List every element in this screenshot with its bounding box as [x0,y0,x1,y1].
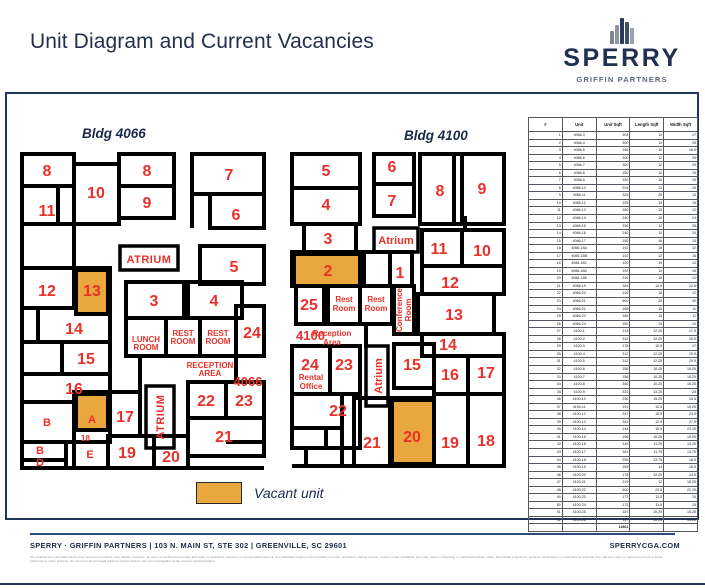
cell-c-len: 12 [630,222,664,230]
cell-c-sq: 216 [596,290,630,298]
svg-text:8: 8 [43,163,52,180]
cell-c-unit: 4100-25 [562,509,596,517]
cell-c-wid: 16 [664,267,698,275]
cell-c-wid: 15.25 [664,403,698,411]
cell-c-wid: 15 [664,184,698,192]
cell-c-num: 8 [529,184,563,192]
cell-c-wid: 12 [664,290,698,298]
cell-c-sq: 192 [596,245,630,253]
cell-c-num: 12 [529,215,563,223]
svg-text:9: 9 [143,195,152,212]
total-sqft: 11861 [596,524,630,532]
cell-c-sq: 247 [596,411,630,419]
cell-c-len: 10.5 [630,426,664,434]
cell-c-sq: 300 [596,154,630,162]
table-row[interactable]: 124066-142401024 [529,215,698,223]
cell-c-len: 11.5 [630,494,664,502]
cell-c-num: 41 [529,433,563,441]
cell-c-wid: 15 [664,169,698,177]
cell-c-wid: 17 [664,132,698,140]
table-row[interactable]: 344100-834010.2516.25 [529,381,698,389]
table-row[interactable]: 14066-32041217 [529,132,698,140]
cell-c-num: 9 [529,192,563,200]
cell-c-len: 12 [630,162,664,170]
cell-c-wid: 10 [664,320,698,328]
cell-c-wid: 30 [664,298,698,306]
svg-text:22: 22 [329,403,347,420]
cell-c-wid: 25 [664,139,698,147]
cell-c-len: 11.75 [630,448,664,456]
svg-text:4: 4 [210,293,219,310]
building-label-4066: Bldg 4066 [82,126,146,141]
footer-bottom-border [0,583,705,585]
cell-c-wid: 16.25 [664,381,698,389]
cell-c-wid: 14.5 [664,471,698,479]
cell-c-sq: 219 [596,479,630,487]
cell-c-num: 17 [529,252,563,260]
cell-c-num: 32 [529,365,563,373]
svg-text:24: 24 [301,357,319,374]
svg-text:21: 21 [215,429,233,446]
cell-c-num: 52 [529,516,563,524]
svg-text:ATRIUM: ATRIUM [155,395,167,440]
table-row[interactable]: 274100-121412.2517.5 [529,328,698,336]
cell-c-num: 48 [529,486,563,494]
table-row[interactable]: 254066-231651511 [529,313,698,321]
cell-c-unit: 4100-13 [562,418,596,426]
floorplan-bldg-4066[interactable]: 8 10 8 9 7 11 6 12 13 5 14 3 4 24 15 16 … [14,146,272,476]
footer-rule [30,533,675,535]
cell-c-wid: 27.5 [664,418,698,426]
cell-c-sq: 300 [596,162,630,170]
cell-c-unit: 4100-23 [562,494,596,502]
cell-c-wid: 15.25 [664,509,698,517]
cell-c-num: 24 [529,305,563,313]
cell-c-wid: 11 [664,313,698,321]
cell-c-sq: 168 [596,147,630,155]
cell-c-num: 16 [529,245,563,253]
cell-c-num: 30 [529,350,563,358]
svg-text:9: 9 [478,181,487,198]
footer-company-line: SPERRY · GRIFFIN PARTNERS | 103 N. MAIN … [30,541,347,550]
cell-c-len: 15 [630,305,664,313]
svg-text:19: 19 [118,445,136,462]
svg-text:ROOM: ROOM [171,337,196,346]
table-row[interactable]: 134066-153361228 [529,222,698,230]
cell-c-unit: 4100-8 [562,381,596,389]
cell-c-num: 34 [529,381,563,389]
cell-c-num: 13 [529,222,563,230]
cell-c-num: 38 [529,411,563,419]
sperry-logo: SPERRY GRIFFIN PARTNERS [561,14,683,84]
svg-text:16: 16 [65,381,83,398]
cell-c-unit: 4100-2 [562,335,596,343]
table-row[interactable]: 454100-192591418.5 [529,464,698,472]
cell-c-unit: 4100-12 [562,411,596,419]
table-row[interactable]: 324100-615610.2515.25 [529,365,698,373]
table-row[interactable]: 414100-1515610.2515.25 [529,433,698,441]
cell-c-sq: 157 [596,509,630,517]
cell-c-wid: 28 [664,222,698,230]
svg-text:12: 12 [441,275,459,292]
cell-c-wid: 25 [664,388,698,396]
svg-text:22: 22 [197,393,215,410]
units-table-body: 14066-3204121724066-4300122534066-516810… [529,132,698,532]
cell-c-len: 10 [630,215,664,223]
svg-text:3: 3 [324,231,333,248]
cell-c-wid: 15.25 [664,516,698,524]
cell-c-len: 10 [630,169,664,177]
cell-c-sq: 300 [596,139,630,147]
cell-c-unit: 4100-4 [562,350,596,358]
cell-c-sq: 173 [596,494,630,502]
cell-c-len: 20 [630,298,664,306]
cell-c-unit: 4100-20 [562,471,596,479]
table-row[interactable]: 314100-531212.2525.5 [529,358,698,366]
svg-text:A: A [88,414,96,426]
cell-c-sq: 325 [596,192,630,200]
table-row[interactable]: 284100-231212.2525.5 [529,335,698,343]
table-row[interactable]: 294100-317810.517 [529,343,698,351]
table-row[interactable]: 114066-131801512 [529,207,698,215]
cell-c-len: 18 [630,290,664,298]
cell-c-num: 33 [529,373,563,381]
table-row[interactable]: 74066-91501015 [529,177,698,185]
svg-text:10: 10 [87,185,105,202]
cell-c-num: 6 [529,169,563,177]
cell-c-wid: 13 [664,192,698,200]
cell-c-num: 20 [529,275,563,283]
cell-c-sq: 204 [596,184,630,192]
table-row[interactable]: 364100-1023615.2515.5 [529,396,698,404]
table-row[interactable]: 484100-2260023.522.25 [529,486,698,494]
table-row[interactable]: 174066-18B1921216 [529,252,698,260]
cell-c-unit: 4066-21 [562,298,596,306]
svg-text:6: 6 [232,207,241,224]
cell-c-sq: 165 [596,313,630,321]
table-row[interactable]: 204066-18E2161812 [529,275,698,283]
cell-c-wid: 24 [664,230,698,238]
cell-c-len: 15 [630,313,664,321]
svg-text:23: 23 [235,393,253,410]
table-row[interactable]: 194066-18D1921216 [529,267,698,275]
table-row[interactable]: 464100-2017812.2514.5 [529,471,698,479]
table-row[interactable]: 384100-1224710.523.5 [529,411,698,419]
total-spacer [630,524,664,532]
table-row[interactable]: 374100-1119112.515.25 [529,403,698,411]
cell-c-sq: 214 [596,328,630,336]
cell-c-wid: 15 [664,501,698,509]
cell-c-sq: 244 [596,426,630,434]
cell-c-unit: 4066-8 [562,169,596,177]
svg-text:8: 8 [436,183,445,200]
cell-c-unit: 4066-16 [562,230,596,238]
table-row[interactable]: 424100-1614911.2513.25 [529,441,698,449]
svg-text:Conference: Conference [395,287,404,332]
cell-c-unit: 4066-23 [562,313,596,321]
cell-c-sq: 240 [596,215,630,223]
cell-c-wid: 15 [664,177,698,185]
cell-c-len: 16 [630,245,664,253]
cell-c-sq: 216 [596,275,630,283]
cell-c-num: 46 [529,471,563,479]
cell-c-sq: 191 [596,403,630,411]
page-title: Unit Diagram and Current Vacancies [30,30,374,54]
table-row[interactable]: 94066-113252513 [529,192,698,200]
cell-c-sq: 600 [596,298,630,306]
svg-text:Room: Room [404,299,413,322]
cell-c-num: 10 [529,199,563,207]
svg-text:25: 25 [300,297,318,314]
cell-c-len: 11.25 [630,441,664,449]
cell-c-wid: 15 [664,494,698,502]
cell-c-wid: 12 [664,275,698,283]
cell-c-len: 12.25 [630,350,664,358]
table-row[interactable]: 494100-2317311.515 [529,494,698,502]
cell-c-wid: 24 [664,215,698,223]
cell-c-sq: 259 [596,464,630,472]
svg-text:21: 21 [363,435,381,452]
svg-text:ROOM: ROOM [134,343,159,352]
cell-c-num: 39 [529,418,563,426]
svg-text:7: 7 [225,167,234,184]
cell-c-wid: 17 [664,343,698,351]
cell-c-unit: 4066-12 [562,199,596,207]
cell-c-wid: 22.25 [664,486,698,494]
cell-c-wid: 16 [664,252,698,260]
table-row[interactable]: 144066-162401024 [529,230,698,238]
cell-c-unit: 4100-17 [562,448,596,456]
floorplan-bldg-4100[interactable]: 5 6 7 4 8 9 3 2 1 11 10 12 25 13 14 15 1… [282,148,514,476]
cell-c-unit: 4066-6 [562,154,596,162]
cell-c-len: 10.25 [630,433,664,441]
table-row[interactable]: 474100-212191218.25 [529,479,698,487]
cell-c-sq: 331 [596,388,630,396]
cell-c-wid: 23.25 [664,426,698,434]
svg-text:5: 5 [322,163,331,180]
cell-c-wid: 15.25 [664,373,698,381]
units-table: # Unit Unit Sqft Length Sqft Width Sqft … [528,117,698,532]
cell-c-wid: 12 [664,260,698,268]
cell-c-wid: 25.5 [664,350,698,358]
cell-c-unit: 4066-13 [562,207,596,215]
table-row[interactable]: 224066-202161812 [529,290,698,298]
cell-c-wid: 15.5 [664,396,698,404]
cell-c-unit: 4066-5 [562,147,596,155]
svg-text:18: 18 [477,433,495,450]
cell-c-wid: 18.5 [664,464,698,472]
svg-text:10: 10 [473,243,491,260]
table-row[interactable]: 234066-216002030 [529,298,698,306]
table-row[interactable]: 154066-171501015 [529,237,698,245]
cell-c-len: 12 [630,154,664,162]
svg-text:19: 19 [441,435,459,452]
cell-c-wid: 25 [664,154,698,162]
table-row[interactable]: 54066-73001225 [529,162,698,170]
table-row[interactable]: 244066-221651511 [529,305,698,313]
cell-c-num: 21 [529,282,563,290]
svg-text:3: 3 [150,293,159,310]
cell-c-len: 12.5 [630,418,664,426]
cell-c-len: 10 [630,230,664,238]
cell-c-unit: 4100-24 [562,501,596,509]
cell-c-unit: 4066-18B [562,252,596,260]
cell-c-num: 4 [529,154,563,162]
cell-c-num: 22 [529,290,563,298]
table-row[interactable]: 164066-18A1921612 [529,245,698,253]
cell-c-len: 23.5 [630,486,664,494]
cell-c-len: 11.5 [630,501,664,509]
table-row[interactable]: 184066-18C1201012 [529,260,698,268]
svg-text:11: 11 [431,241,448,258]
svg-text:Rest: Rest [367,295,385,304]
cell-c-len: 12 [630,267,664,275]
svg-text:13: 13 [83,283,101,300]
cell-c-len: 10 [630,237,664,245]
cell-c-num: 7 [529,177,563,185]
table-row[interactable]: 394100-1334312.527.5 [529,418,698,426]
svg-text:2: 2 [324,263,333,280]
cell-c-len: 10.25 [630,365,664,373]
cell-c-unit: 4100-19 [562,464,596,472]
svg-text:7: 7 [388,193,397,210]
cell-c-num: 23 [529,298,563,306]
svg-text:11: 11 [39,203,56,220]
cell-c-sq: 312 [596,335,630,343]
svg-text:23: 23 [335,357,353,374]
cell-c-sq: 225 [596,199,630,207]
table-row[interactable]: 334100-715610.2515.25 [529,373,698,381]
cell-c-num: 3 [529,147,563,155]
cell-c-len: 12.25 [630,335,664,343]
table-row[interactable]: 214066-1918414.612.6 [529,282,698,290]
table-row[interactable]: 24066-43001225 [529,139,698,147]
svg-text:Office: Office [300,382,323,391]
cell-c-sq: 156 [596,365,630,373]
cell-c-unit: 4066-9 [562,177,596,185]
cell-c-unit: 4066-19 [562,282,596,290]
cell-c-unit: 4100-3 [562,343,596,351]
cell-c-num: 11 [529,207,563,215]
cell-c-sq: 336 [596,222,630,230]
cell-c-unit: 4066-24 [562,320,596,328]
col-unit: Unit [562,118,596,132]
cell-c-wid: 25.5 [664,358,698,366]
cell-c-len: 10.25 [630,509,664,517]
svg-text:Area: Area [323,338,341,347]
cell-c-len: 12.25 [630,358,664,366]
table-row[interactable]: 514100-2515710.2515.25 [529,509,698,517]
cell-c-unit: 4066-22 [562,305,596,313]
cell-c-unit: 4066-18A [562,245,596,253]
cell-c-unit: 4066-7 [562,162,596,170]
cell-c-sq: 192 [596,252,630,260]
legend: Vacant unit [196,482,324,504]
legend-vacant-label: Vacant unit [254,485,324,501]
table-row[interactable]: 444100-1825513.7518.5 [529,456,698,464]
cell-c-sq: 178 [596,343,630,351]
cell-c-unit: 4100-22 [562,486,596,494]
cell-c-sq: 150 [596,237,630,245]
cell-c-len: 18 [630,275,664,283]
cell-c-len: 15.25 [630,396,664,404]
svg-text:D: D [36,457,44,469]
svg-text:AREA: AREA [199,369,222,378]
cell-c-len: 10.5 [630,411,664,419]
svg-text:Room: Room [333,304,356,313]
cell-c-sq: 343 [596,418,630,426]
svg-text:4100: 4100 [296,328,325,343]
table-row[interactable]: 404100-1424410.523.25 [529,426,698,434]
cell-c-num: 40 [529,426,563,434]
table-row[interactable]: 44066-63001225 [529,154,698,162]
cell-c-sq: 204 [596,132,630,140]
table-row[interactable]: 524100-2615710.2515.25 [529,516,698,524]
cell-c-unit: 4066-11 [562,192,596,200]
cell-c-sq: 157 [596,516,630,524]
units-table-wrap[interactable]: # Unit Unit Sqft Length Sqft Width Sqft … [528,117,698,532]
table-row[interactable]: 104066-122251515 [529,199,698,207]
cell-c-unit: 4066-18C [562,260,596,268]
table-row[interactable]: 64066-81501015 [529,169,698,177]
cell-c-len: 10.25 [630,373,664,381]
table-header-row: # Unit Unit Sqft Length Sqft Width Sqft [529,118,698,132]
cell-c-num: 29 [529,343,563,351]
cell-c-unit: 4100-7 [562,373,596,381]
cell-c-len: 25 [630,192,664,200]
cell-c-unit: 4066-4 [562,139,596,147]
svg-text:15: 15 [403,357,421,374]
cell-c-sq: 156 [596,373,630,381]
table-row[interactable]: 504100-2417311.515 [529,501,698,509]
table-row[interactable]: 264066-241501510 [529,320,698,328]
cell-c-num: 45 [529,464,563,472]
cell-c-len: 10 [630,147,664,155]
table-row[interactable]: 434100-1716111.7513.75 [529,448,698,456]
cell-c-len: 12.25 [630,471,664,479]
table-row[interactable]: 34066-51681016.8 [529,147,698,155]
cell-c-wid: 25 [664,162,698,170]
cell-c-num: 27 [529,328,563,336]
cell-c-unit: 4066-10 [562,184,596,192]
table-row[interactable]: 304100-431212.2525.5 [529,350,698,358]
col-width-sqft: Width Sqft [664,118,698,132]
cell-c-unit: 4066-20 [562,290,596,298]
cell-c-len: 12 [630,132,664,140]
cell-c-len: 10.25 [630,516,664,524]
svg-text:Rest: Rest [335,295,353,304]
logo-wordmark: SPERRY [561,46,683,71]
cell-c-num: 43 [529,448,563,456]
cell-c-len: 12 [630,184,664,192]
cell-c-num: 5 [529,162,563,170]
svg-text:12: 12 [38,283,56,300]
cell-c-wid: 18.5 [664,456,698,464]
cell-c-sq: 236 [596,396,630,404]
footer-website[interactable]: SPERRYCGA.COM [610,541,680,550]
table-row[interactable]: 84066-102041215 [529,184,698,192]
cell-c-unit: 4066-18E [562,275,596,283]
table-row[interactable]: 354100-933113.2525 [529,388,698,396]
cell-c-num: 36 [529,396,563,404]
cell-c-len: 10.5 [630,343,664,351]
cell-c-num: 50 [529,501,563,509]
svg-text:20: 20 [403,429,421,446]
svg-text:17: 17 [477,365,495,382]
cell-c-unit: 4100-10 [562,396,596,404]
cell-c-len: 10 [630,260,664,268]
cell-c-len: 10.25 [630,381,664,389]
